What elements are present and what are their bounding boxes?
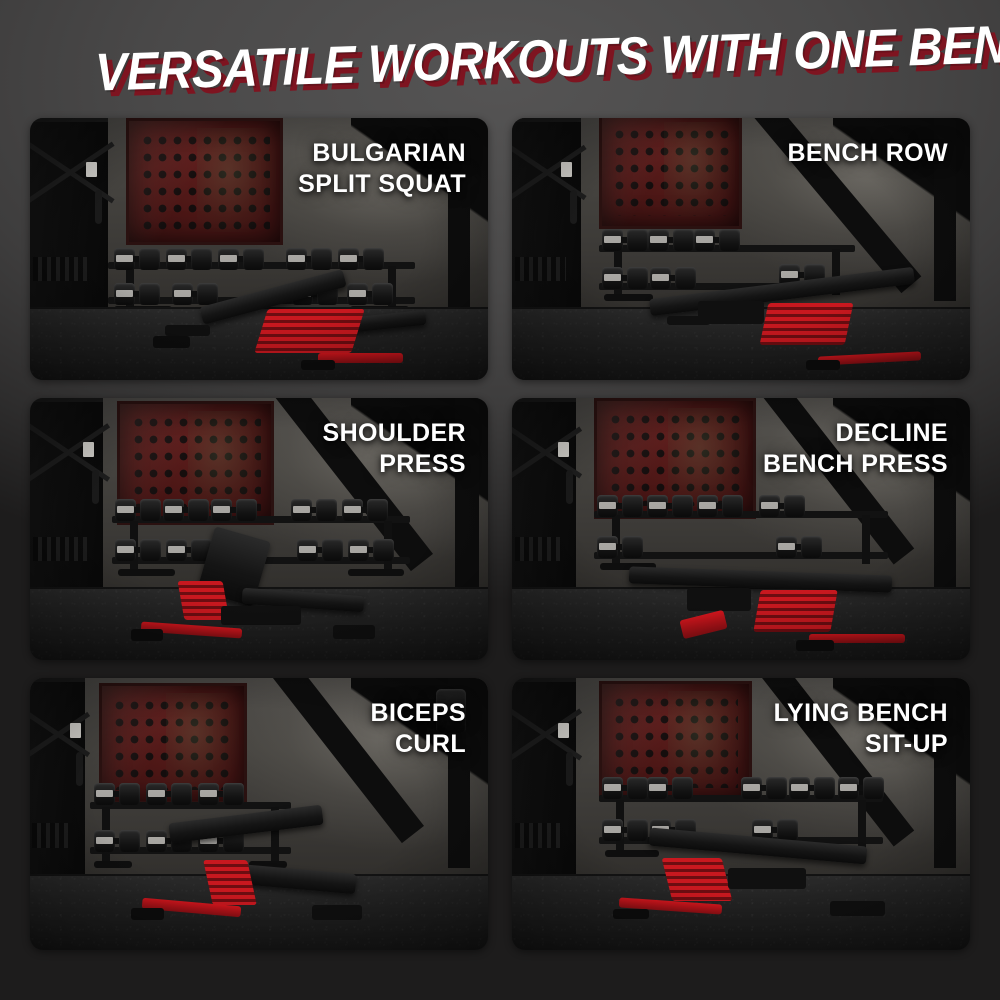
- bench-incline-ladder: [754, 590, 838, 632]
- pegboard-sheen: [602, 118, 739, 226]
- dumbbell-on-rack: [291, 499, 337, 521]
- title-banner: VERSATILE WORKOUTS WITH ONE BENCH VERSAT…: [0, 24, 1000, 100]
- adjustable-bench: [131, 803, 406, 944]
- gym-scene: [512, 678, 970, 950]
- infographic-canvas: VERSATILE WORKOUTS WITH ONE BENCH VERSAT…: [0, 0, 1000, 1000]
- door-vent: [32, 823, 73, 848]
- steel-beam-vertical: [448, 118, 470, 307]
- door-rail: [30, 398, 103, 402]
- dumbbell-on-rack: [838, 777, 884, 799]
- light-switch: [558, 723, 569, 738]
- bench-frame: [221, 606, 301, 624]
- light-switch: [70, 723, 81, 738]
- door-rail: [512, 398, 576, 402]
- dumbbell-on-rack: [597, 495, 643, 517]
- gym-scene: [30, 398, 488, 660]
- door-vent: [515, 537, 562, 561]
- exercise-panel-bulgarian-split-squat[interactable]: BULGARIAN SPLIT SQUAT: [30, 118, 488, 380]
- bench-frame: [687, 588, 751, 611]
- bench-leg-roller: [312, 905, 361, 921]
- adjustable-bench: [613, 825, 915, 945]
- bench-leg-roller: [830, 901, 884, 915]
- door-handle: [95, 190, 102, 224]
- bench-incline-ladder: [203, 860, 257, 905]
- bench-incline-ladder: [662, 858, 733, 901]
- pegboard-sheen: [129, 121, 280, 242]
- dumbbell-on-rack: [146, 783, 192, 805]
- bench-frame: [165, 325, 210, 337]
- door-handle: [76, 752, 83, 786]
- dumbbell-on-rack: [697, 495, 743, 517]
- dumbbell-on-rack: [115, 499, 161, 521]
- dumbbell-on-rack: [602, 777, 648, 799]
- dumbbell-on-rack: [198, 783, 244, 805]
- adjustable-bench: [631, 270, 933, 375]
- dumbbell-on-rack: [647, 777, 693, 799]
- barn-door: [512, 398, 576, 597]
- rack-foot: [94, 861, 132, 868]
- light-switch: [83, 442, 94, 457]
- dumbbell-on-rack: [163, 499, 209, 521]
- exercise-panel-decline-bench-press[interactable]: DECLINE BENCH PRESS: [512, 398, 970, 660]
- door-rail: [512, 118, 581, 122]
- door-rail: [30, 678, 85, 682]
- dumbbell-on-rack: [741, 777, 787, 799]
- pegboard-panel: [599, 118, 742, 229]
- dumbbell-on-rack: [602, 229, 648, 251]
- gym-scene: [30, 118, 488, 380]
- dumbbell-on-rack: [694, 229, 740, 251]
- light-switch: [86, 162, 97, 177]
- bench-foot: [796, 640, 834, 650]
- door-rail: [30, 118, 108, 122]
- door-handle: [566, 470, 573, 504]
- dumbbell-on-rack: [211, 499, 257, 521]
- steel-beam-vertical: [934, 118, 956, 301]
- gym-scene: [512, 398, 970, 660]
- light-switch: [558, 442, 569, 457]
- steel-beam-vertical: [934, 678, 956, 868]
- dumbbell-on-rack: [648, 229, 694, 251]
- door-rail: [512, 678, 576, 682]
- door-vent: [33, 537, 87, 561]
- door-handle: [570, 190, 577, 224]
- adjustable-bench: [131, 539, 397, 654]
- dumbbell-on-rack: [342, 499, 388, 521]
- exercise-panel-biceps-curl[interactable]: BICEPS CURL: [30, 678, 488, 950]
- barn-door: [512, 118, 581, 317]
- exercise-panel-bench-row[interactable]: BENCH ROW: [512, 118, 970, 380]
- bench-frame: [728, 868, 807, 890]
- light-switch: [561, 162, 572, 177]
- exercise-grid: BULGARIAN SPLIT SQUAT: [30, 118, 970, 952]
- bench-leg-holder: [679, 610, 727, 639]
- bench-incline-ladder: [255, 309, 365, 353]
- bench-leg-roller: [667, 316, 709, 325]
- pegboard-panel: [126, 118, 283, 245]
- bench-foot: [131, 908, 164, 921]
- barn-door: [30, 118, 108, 317]
- barn-door: [30, 678, 85, 885]
- bench-foot: [301, 360, 335, 370]
- exercise-panel-lying-bench-sit-up[interactable]: LYING BENCH SIT-UP: [512, 678, 970, 950]
- door-vent: [515, 823, 562, 848]
- gym-scene: [512, 118, 970, 380]
- door-vent: [515, 257, 566, 281]
- dumbbell-on-rack: [647, 495, 693, 517]
- door-vent: [33, 257, 91, 281]
- barn-door: [512, 678, 576, 885]
- bench-incline-ladder: [760, 303, 854, 345]
- hanging-dumbbell: [436, 689, 470, 737]
- adjustable-bench: [131, 267, 415, 372]
- bench-leg-roller: [333, 625, 376, 639]
- door-handle: [566, 752, 573, 786]
- title-stack: VERSATILE WORKOUTS WITH ONE BENCH VERSAT…: [50, 30, 950, 94]
- steel-beam-vertical: [934, 398, 956, 587]
- bench-foot: [131, 629, 163, 641]
- dumbbell-on-rack: [94, 783, 140, 805]
- gym-scene: [30, 678, 488, 950]
- door-handle: [92, 470, 99, 504]
- barn-door: [30, 398, 103, 597]
- dumbbell-on-rack: [759, 495, 805, 517]
- bench-foot: [153, 336, 190, 348]
- bench-foot: [613, 909, 649, 920]
- dumbbell-on-rack: [789, 777, 835, 799]
- exercise-panel-shoulder-press[interactable]: SHOULDER PRESS: [30, 398, 488, 660]
- page-title: VERSATILE WORKOUTS WITH ONE BENCH: [94, 17, 905, 104]
- steel-beam-vertical: [455, 398, 479, 592]
- bench-backrest-pad: [169, 805, 324, 843]
- bench-foot: [806, 360, 839, 369]
- adjustable-bench: [604, 550, 925, 655]
- bench-pad: [629, 566, 892, 592]
